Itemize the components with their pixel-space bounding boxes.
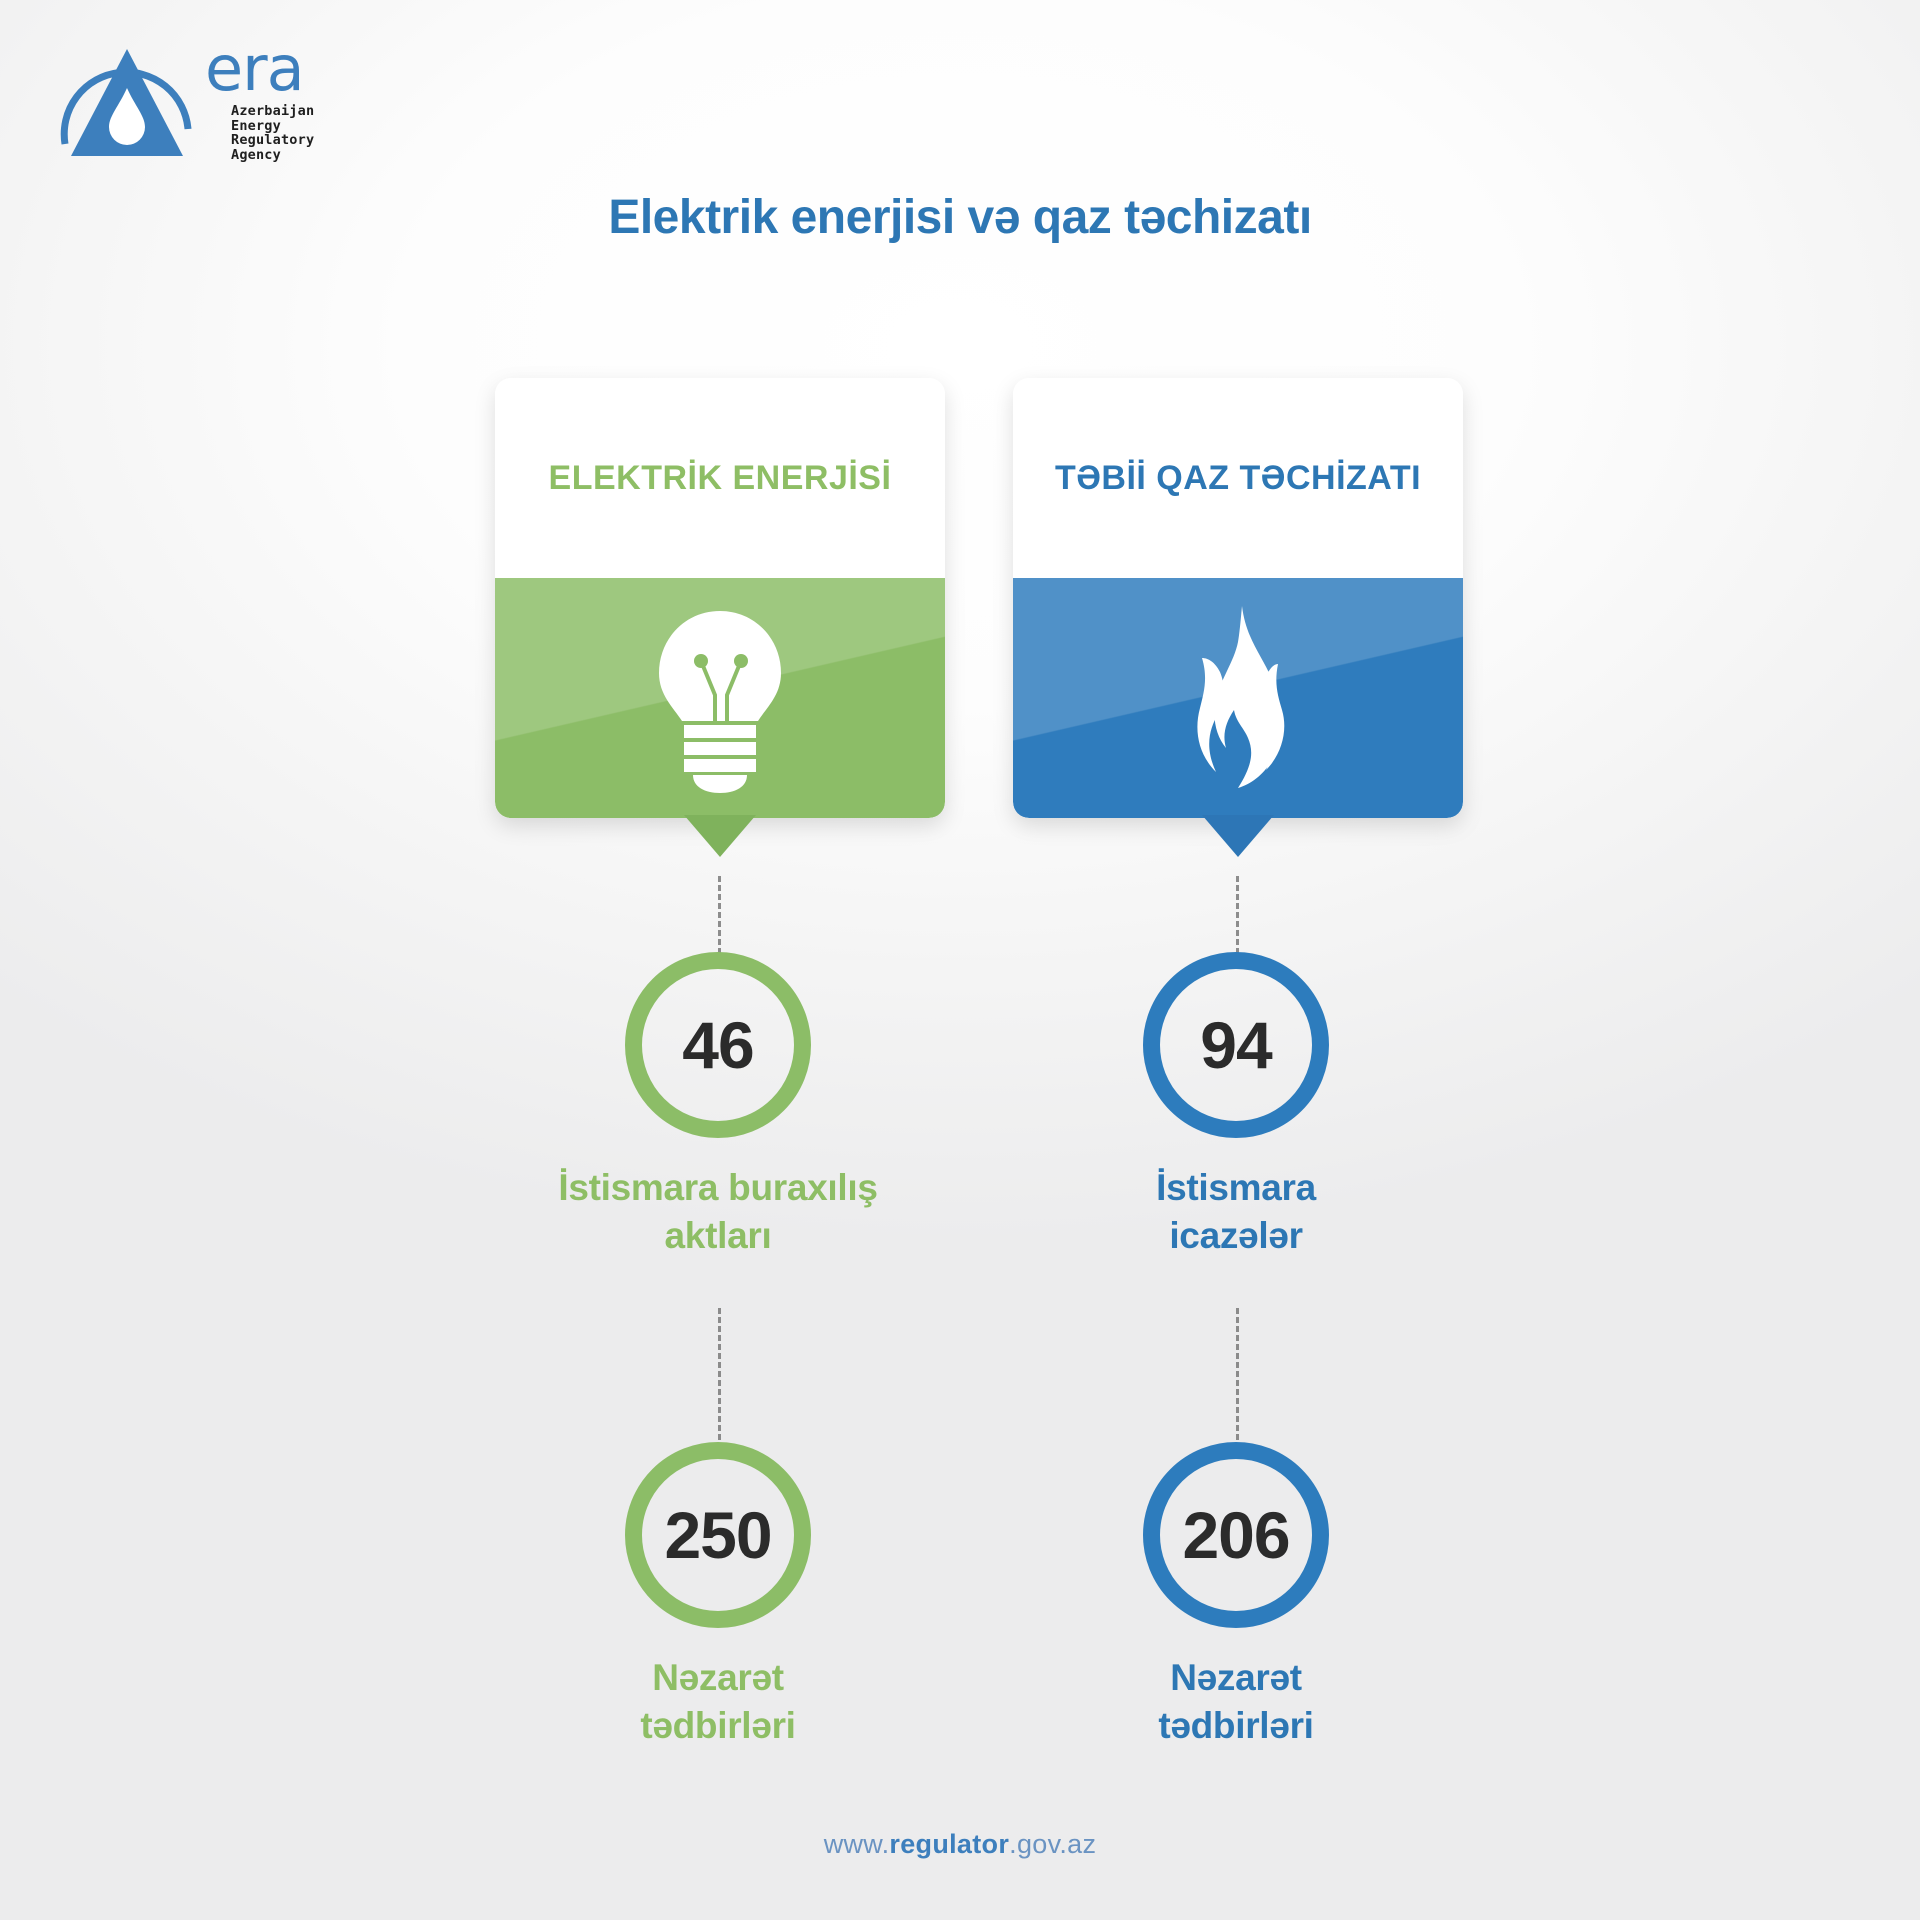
card-electricity: ELEKTRİK ENERJİSİ bbox=[495, 378, 945, 873]
card-electricity-title: ELEKTRİK ENERJİSİ bbox=[549, 456, 892, 500]
card-electricity-header: ELEKTRİK ENERJİSİ bbox=[495, 378, 945, 578]
stat-value: 46 bbox=[682, 1012, 753, 1078]
card-electricity-tail bbox=[684, 815, 756, 857]
stat-label: İstismara icazələr bbox=[1056, 1164, 1416, 1260]
stat-label: Nəzarət tədbirləri bbox=[1056, 1654, 1416, 1750]
footer-url-suffix: .gov.az bbox=[1009, 1829, 1096, 1859]
footer-url-domain: regulator bbox=[889, 1829, 1009, 1859]
stat-ring: 46 bbox=[625, 952, 811, 1138]
lightbulb-icon bbox=[495, 578, 945, 818]
aera-logo: era Azerbaijan Energy Regulatory Agency bbox=[55, 32, 355, 157]
card-natural-gas: TƏBİİ QAZ TƏCHİZATI bbox=[1013, 378, 1463, 873]
stat-ring: 94 bbox=[1143, 952, 1329, 1138]
stat-electricity-inspections: 250 Nəzarət tədbirləri bbox=[618, 1442, 818, 1750]
card-natural-gas-body: TƏBİİ QAZ TƏCHİZATI bbox=[1013, 378, 1463, 818]
card-natural-gas-panel bbox=[1013, 578, 1463, 818]
stat-ring: 206 bbox=[1143, 1442, 1329, 1628]
card-electricity-panel bbox=[495, 578, 945, 818]
connector-electricity-bottom bbox=[718, 1308, 721, 1440]
logo-agency-lines: Azerbaijan Energy Regulatory Agency bbox=[231, 104, 314, 162]
aera-logo-droplet-icon bbox=[55, 32, 220, 157]
card-natural-gas-header: TƏBİİ QAZ TƏCHİZATI bbox=[1013, 378, 1463, 578]
stat-label: İstismara buraxılış aktları bbox=[508, 1164, 928, 1260]
stat-gas-inspections: 206 Nəzarət tədbirləri bbox=[1136, 1442, 1336, 1750]
logo-wordmark: era bbox=[205, 38, 304, 100]
card-natural-gas-tail bbox=[1202, 815, 1274, 857]
logo-line-4: Agency bbox=[231, 148, 314, 163]
infographic-canvas: era Azerbaijan Energy Regulatory Agency … bbox=[0, 0, 1920, 1920]
page-title: Elektrik enerjisi və qaz təchizatı bbox=[0, 190, 1920, 245]
stat-value: 94 bbox=[1200, 1012, 1271, 1078]
stat-ring: 250 bbox=[625, 1442, 811, 1628]
connector-electricity-top bbox=[718, 876, 721, 954]
footer-url-prefix: www. bbox=[824, 1829, 890, 1859]
stat-gas-permits: 94 İstismara icazələr bbox=[1136, 952, 1336, 1260]
stat-value: 250 bbox=[664, 1502, 771, 1568]
footer-url[interactable]: www.regulator.gov.az bbox=[0, 1829, 1920, 1860]
logo-line-1: Azerbaijan bbox=[231, 104, 314, 119]
card-electricity-body: ELEKTRİK ENERJİSİ bbox=[495, 378, 945, 818]
logo-line-3: Regulatory bbox=[231, 133, 314, 148]
stat-value: 206 bbox=[1182, 1502, 1289, 1568]
logo-line-2: Energy bbox=[231, 119, 314, 134]
flame-icon bbox=[1013, 578, 1463, 818]
stat-electricity-permits: 46 İstismara buraxılış aktları bbox=[618, 952, 818, 1260]
connector-gas-top bbox=[1236, 876, 1239, 954]
stat-label: Nəzarət tədbirləri bbox=[538, 1654, 898, 1750]
card-natural-gas-title: TƏBİİ QAZ TƏCHİZATI bbox=[1055, 456, 1421, 500]
connector-gas-bottom bbox=[1236, 1308, 1239, 1440]
